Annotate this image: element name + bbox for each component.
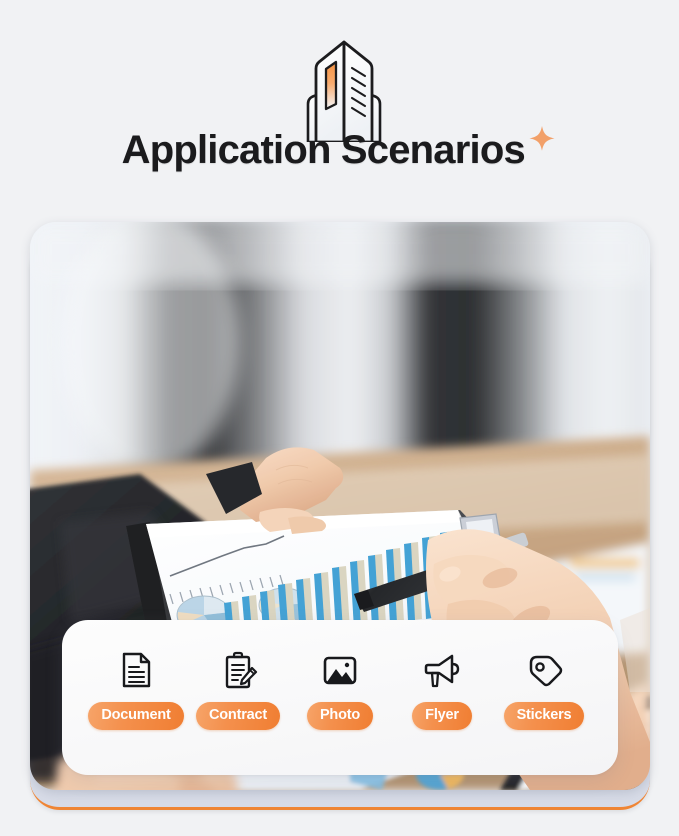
page-title: Application Scenarios — [122, 130, 525, 170]
page-header: Application Scenarios — [0, 0, 679, 210]
clipboard-pencil-icon — [218, 650, 258, 690]
scenario-tags-card: Document Contract — [62, 620, 618, 775]
scenario-tag-label: Stickers — [504, 702, 585, 730]
scenario-tag-photo[interactable]: Photo — [290, 650, 390, 730]
image-mountain-icon — [320, 650, 360, 690]
document-lines-icon — [116, 650, 156, 690]
scenario-tags-row: Document Contract — [62, 650, 618, 730]
scenario-tag-label: Document — [88, 702, 183, 730]
scenario-tag-label: Photo — [307, 702, 373, 730]
scenario-tag-contract[interactable]: Contract — [188, 650, 288, 730]
sparkle-star-icon — [527, 124, 557, 154]
application-scenarios-page: Application Scenarios — [0, 0, 679, 836]
price-tag-icon — [524, 650, 564, 690]
scenario-tag-stickers[interactable]: Stickers — [494, 650, 594, 730]
scenario-tag-label: Flyer — [412, 702, 472, 730]
page-title-row: Application Scenarios — [0, 130, 679, 170]
scenario-tag-flyer[interactable]: Flyer — [392, 650, 492, 730]
megaphone-icon — [422, 650, 462, 690]
scenario-tag-label: Contract — [196, 702, 280, 730]
scenario-tag-document[interactable]: Document — [86, 650, 186, 730]
office-building-icon — [286, 38, 402, 142]
